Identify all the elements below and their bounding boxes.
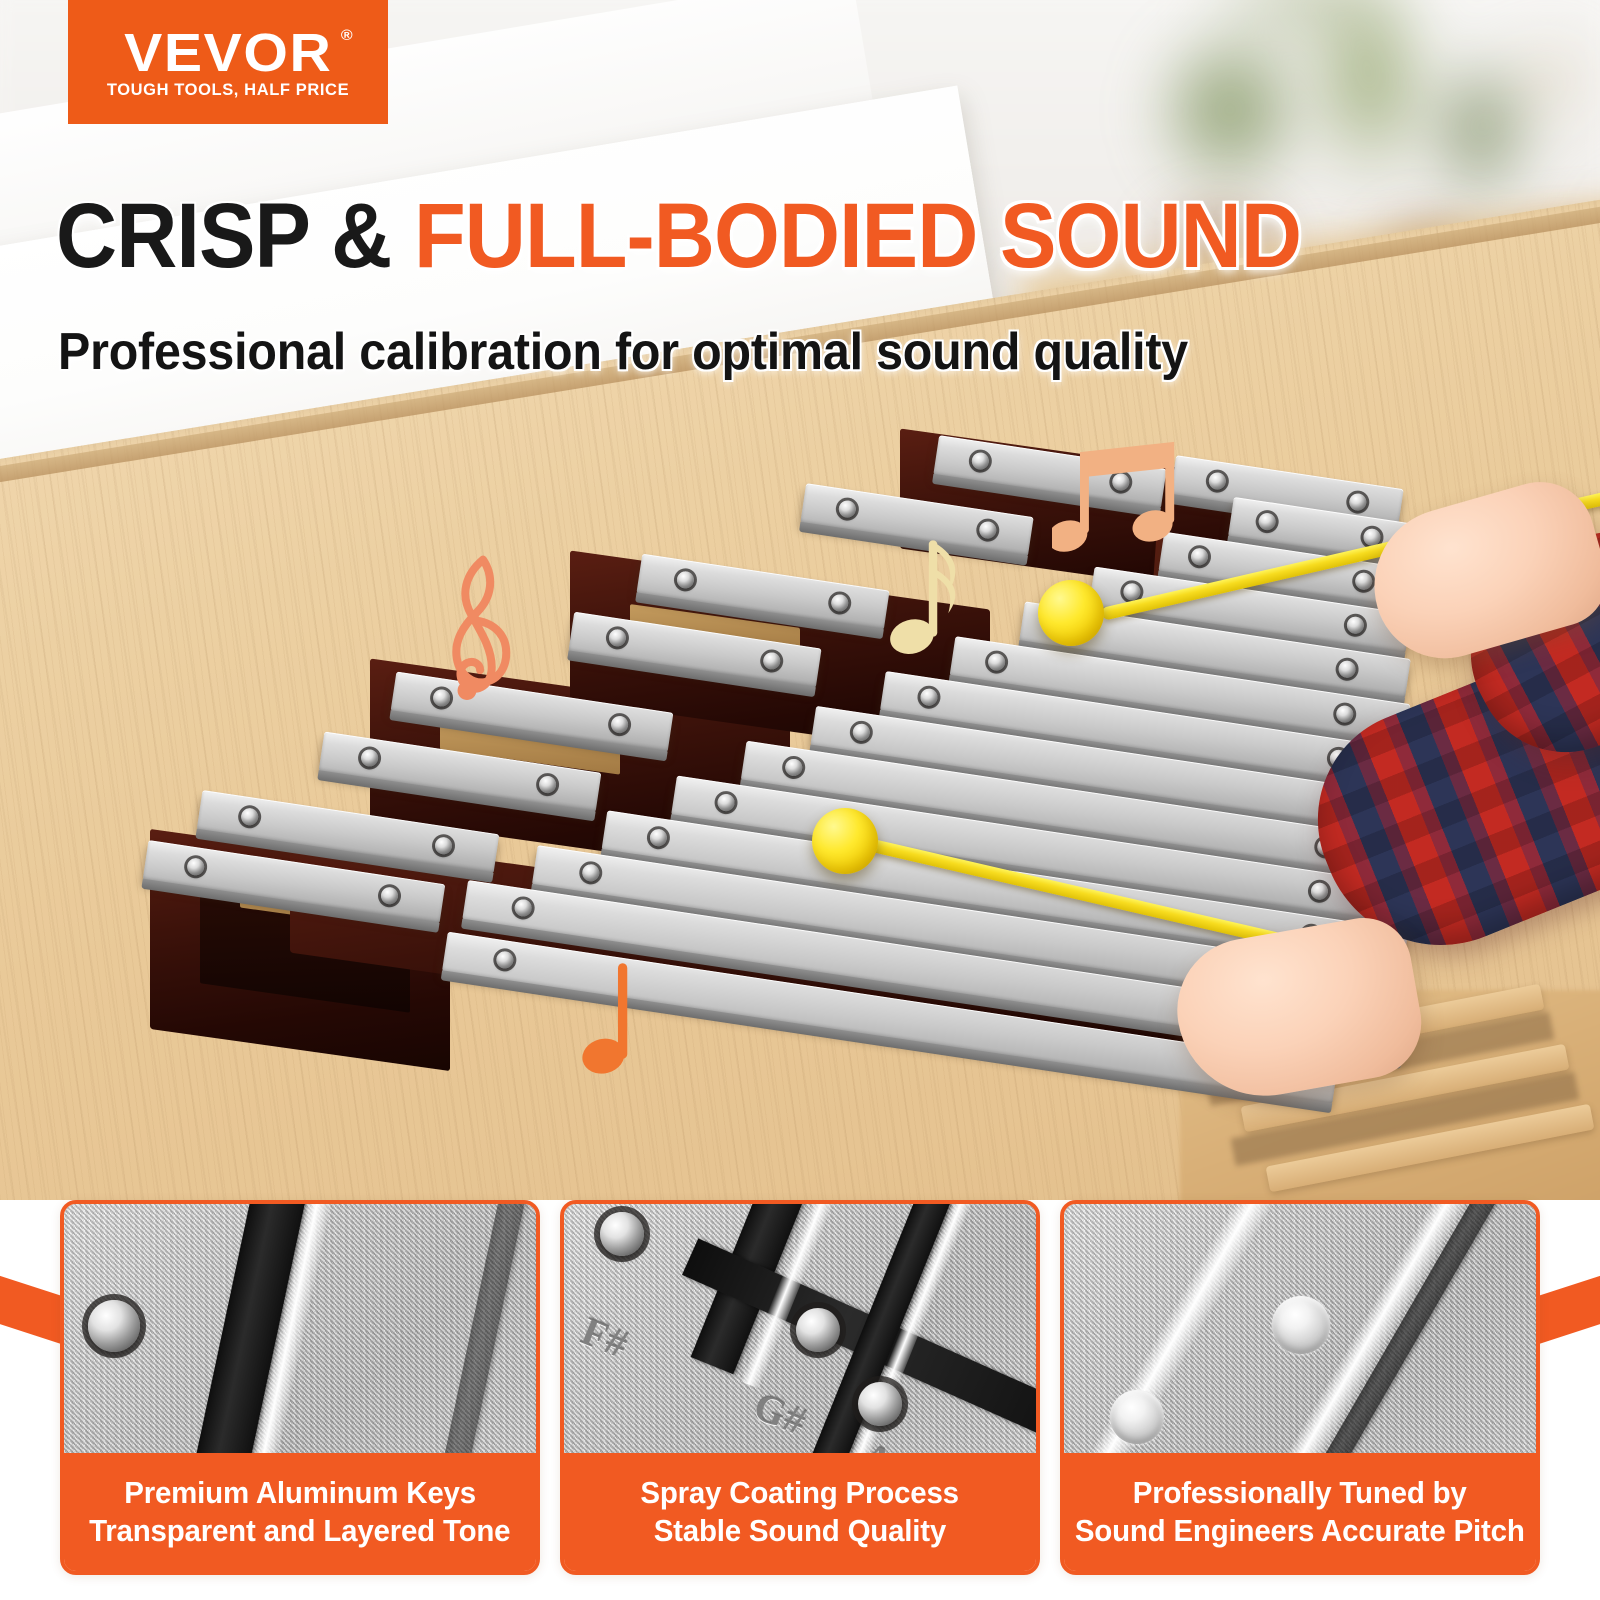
feature-card-photo <box>1064 1204 1536 1453</box>
headline: CRISP & FULL-BODIED SOUND <box>56 190 1301 282</box>
feature-card-photo <box>64 1204 536 1453</box>
caption-line-2: Sound Engineers Accurate Pitch <box>1075 1513 1525 1549</box>
feature-card-spray-coating-process[interactable]: F# G# A# Spray Coating Process Stable So… <box>560 1200 1040 1575</box>
caption-line-1: Professionally Tuned by <box>1133 1475 1467 1511</box>
feature-card-list: Premium Aluminum Keys Transparent and La… <box>0 1200 1600 1600</box>
feature-card-caption: Spray Coating Process Stable Sound Quali… <box>564 1453 1036 1571</box>
headline-orange-part: FULL-BODIED SOUND <box>414 185 1301 287</box>
screw-rivet <box>858 1382 902 1426</box>
feature-card-caption: Premium Aluminum Keys Transparent and La… <box>64 1453 536 1571</box>
beamed-eighth-notes-icon <box>1052 438 1192 568</box>
caption-line-2: Stable Sound Quality <box>654 1513 946 1549</box>
caption-line-1: Spray Coating Process <box>641 1475 959 1511</box>
marketing-banner: VEVOR ® TOUGH TOOLS, HALF PRICE CRISP & … <box>0 0 1600 1600</box>
treble-clef-icon <box>438 548 528 708</box>
feature-card-caption: Professionally Tuned by Sound Engineers … <box>1064 1453 1536 1571</box>
screw-rivet <box>600 1212 644 1256</box>
feature-card-photo: F# G# A# <box>564 1204 1036 1453</box>
registered-trademark-icon: ® <box>341 28 353 43</box>
brand-logo-text: VEVOR <box>124 23 332 83</box>
brand-logo-wordmark: VEVOR ® <box>124 26 332 80</box>
caption-line-1: Premium Aluminum Keys <box>124 1475 476 1511</box>
mallet-head-upper <box>1038 580 1104 646</box>
brand-logo[interactable]: VEVOR ® TOUGH TOOLS, HALF PRICE <box>68 0 388 124</box>
mallet-head-lower <box>812 808 878 874</box>
brand-tagline: TOUGH TOOLS, HALF PRICE <box>107 82 349 99</box>
caption-line-2: Transparent and Layered Tone <box>89 1513 510 1549</box>
headline-black-part: CRISP & <box>56 185 414 287</box>
eighth-note-cream-icon <box>888 530 980 660</box>
tuning-dimple <box>1272 1296 1330 1354</box>
tuning-dimple <box>1110 1390 1164 1444</box>
screw-rivet <box>796 1308 840 1352</box>
quarter-note-orange-icon <box>580 958 648 1080</box>
feature-card-professionally-tuned[interactable]: Professionally Tuned by Sound Engineers … <box>1060 1200 1540 1575</box>
screw-rivet <box>88 1300 140 1352</box>
hero-photo <box>0 0 1600 1210</box>
subheadline: Professional calibration for optimal sou… <box>58 322 1188 382</box>
feature-card-premium-aluminum-keys[interactable]: Premium Aluminum Keys Transparent and La… <box>60 1200 540 1575</box>
